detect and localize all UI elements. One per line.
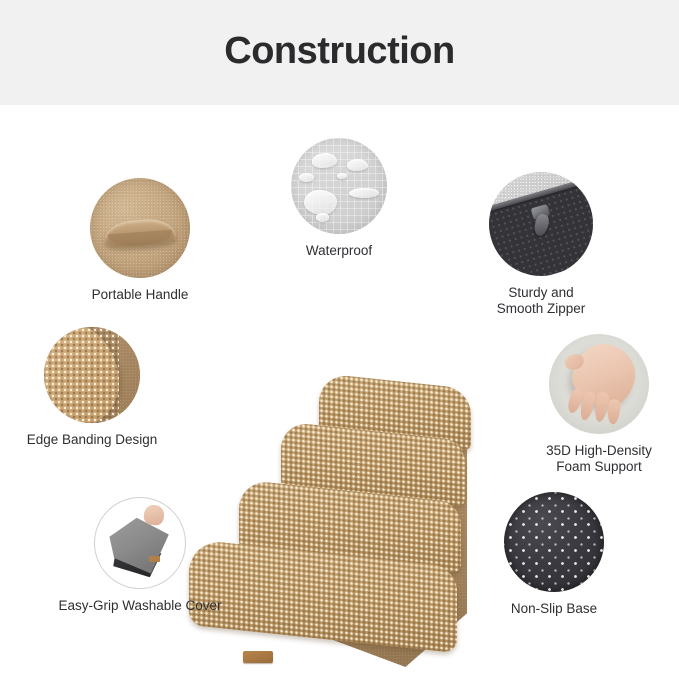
water-droplet xyxy=(312,153,337,167)
handle-strap-icon xyxy=(90,178,190,278)
water-droplet xyxy=(304,190,337,215)
water-droplet xyxy=(299,173,314,183)
feature-label-edge-banding-design: Edge Banding Design xyxy=(2,432,182,448)
water-droplet xyxy=(316,213,329,222)
feature-label-waterproof: Waterproof xyxy=(291,243,387,259)
page-title: Construction xyxy=(0,30,679,73)
feature-label-portable-handle: Portable Handle xyxy=(90,287,190,303)
cover-tag xyxy=(149,556,160,562)
feature-edge-banding-design: Edge Banding Design xyxy=(44,327,140,448)
feature-portable-handle: Portable Handle xyxy=(90,178,190,303)
feature-sturdy-smooth-zipper: Sturdy and Smooth Zipper xyxy=(489,172,593,317)
hand-shape xyxy=(142,504,164,526)
feature-label-sturdy-smooth-zipper: Sturdy and Smooth Zipper xyxy=(489,285,593,317)
content-area: Portable Handle Waterproof Sturdy and Sm… xyxy=(0,105,679,627)
water-droplet xyxy=(349,188,380,199)
feature-label-non-slip-base: Non-Slip Base xyxy=(479,601,629,617)
dotted-grip-base-icon xyxy=(504,492,604,592)
feature-non-slip-base: Non-Slip Base xyxy=(504,492,604,617)
water-droplets-icon xyxy=(291,138,387,234)
hand-lifting-cover-icon xyxy=(94,497,186,589)
product-brand-tag xyxy=(243,651,273,663)
finger-shape xyxy=(607,399,622,425)
hand-pressing-foam-icon xyxy=(549,334,649,434)
edge-textured-fabric xyxy=(44,327,119,423)
thumb-shape xyxy=(564,353,585,371)
feature-label-foam-support: 35D High-Density Foam Support xyxy=(519,443,679,475)
product-image-pet-stairs xyxy=(171,373,501,685)
feature-waterproof: Waterproof xyxy=(291,138,387,259)
zipper-icon xyxy=(489,172,593,276)
feature-label-easy-grip-washable-cover: Easy-Grip Washable Cover xyxy=(40,598,240,614)
handle-strap-shape xyxy=(103,218,177,249)
feature-foam-support: 35D High-Density Foam Support xyxy=(549,334,649,475)
water-droplet xyxy=(337,173,347,180)
water-droplet xyxy=(347,159,368,171)
fabric-seam-icon xyxy=(44,327,140,423)
feature-easy-grip-washable-cover: Easy-Grip Washable Cover xyxy=(94,497,186,614)
